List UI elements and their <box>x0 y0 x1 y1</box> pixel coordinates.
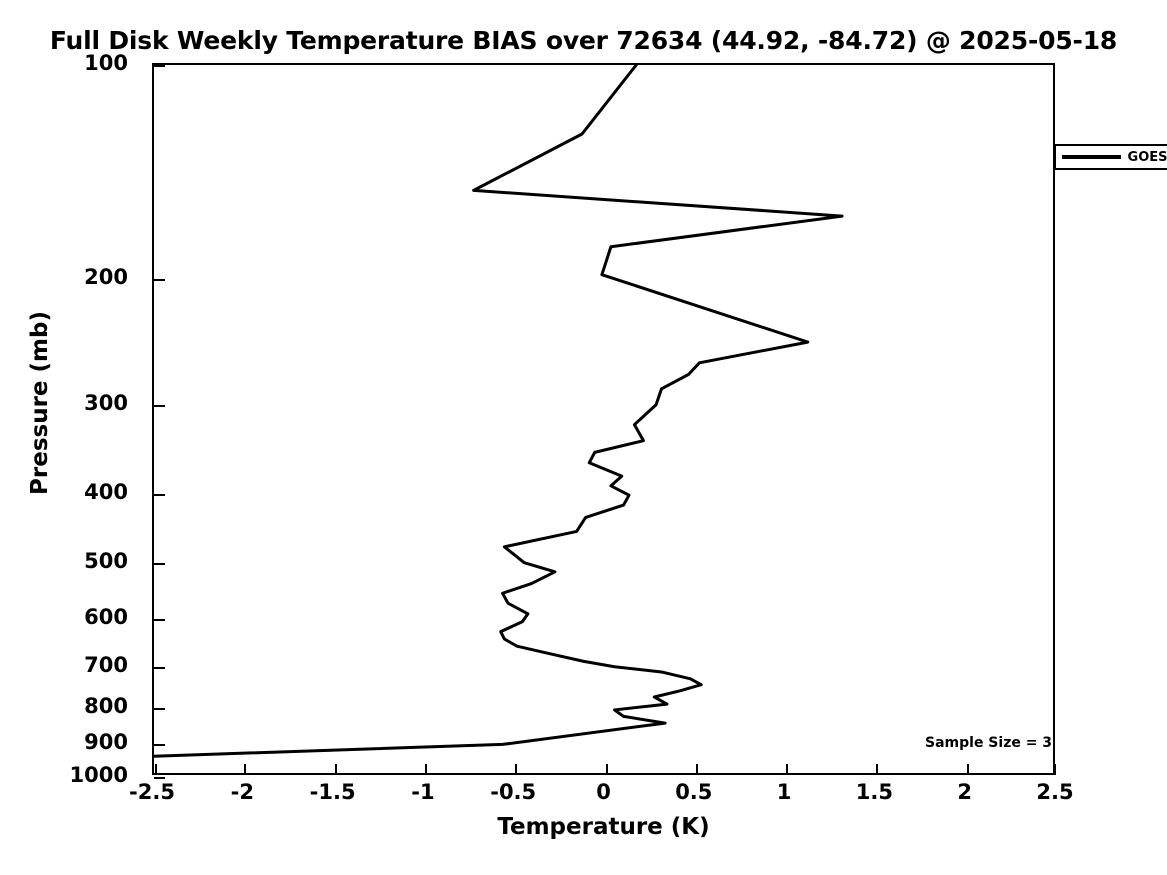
y-tick-label: 900 <box>84 730 128 754</box>
x-axis-tick-labels: -2.5-2-1.5-1-0.500.511.522.5 <box>152 780 1055 814</box>
x-tick-mark <box>425 764 427 775</box>
legend-line-swatch <box>1062 155 1121 159</box>
series-line-goes-19 <box>154 65 842 756</box>
x-tick-label: 2.5 <box>1036 780 1073 804</box>
y-tick-label: 400 <box>84 480 128 504</box>
y-tick-label: 800 <box>84 694 128 718</box>
x-tick-mark <box>335 764 337 775</box>
sample-size-annotation: Sample Size = 3 <box>925 735 1052 751</box>
x-tick-mark <box>606 764 608 775</box>
x-tick-label: 1.5 <box>856 780 893 804</box>
x-tick-mark <box>876 764 878 775</box>
x-tick-label: -2.5 <box>129 780 175 804</box>
x-tick-mark <box>155 764 157 775</box>
x-tick-mark <box>786 764 788 775</box>
x-tick-label: 0.5 <box>675 780 712 804</box>
y-tick-mark <box>154 619 165 621</box>
x-tick-mark <box>696 764 698 775</box>
plot-area: GOES-19 <box>152 63 1055 775</box>
y-tick-mark <box>154 667 165 669</box>
y-tick-mark <box>154 405 165 407</box>
y-tick-mark <box>154 279 165 281</box>
data-line-svg <box>154 65 1057 777</box>
legend[interactable]: GOES-19 <box>1054 144 1167 170</box>
x-axis-title: Temperature (K) <box>152 814 1055 840</box>
y-tick-label: 1000 <box>70 763 128 787</box>
x-tick-label: -2 <box>231 780 254 804</box>
page-title: Full Disk Weekly Temperature BIAS over 7… <box>0 26 1167 55</box>
y-tick-label: 600 <box>84 605 128 629</box>
x-tick-label: -0.5 <box>490 780 536 804</box>
y-axis-title: Pressure (mb) <box>27 263 53 543</box>
x-tick-mark <box>244 764 246 775</box>
x-tick-mark <box>1054 764 1056 775</box>
y-axis-tick-labels: 1002003004005006007008009001000 <box>0 63 142 775</box>
y-tick-label: 500 <box>84 549 128 573</box>
y-tick-mark <box>154 65 165 67</box>
y-tick-label: 300 <box>84 391 128 415</box>
y-tick-label: 100 <box>84 51 128 75</box>
y-tick-mark <box>154 744 165 746</box>
y-tick-label: 700 <box>84 653 128 677</box>
x-tick-label: -1.5 <box>310 780 356 804</box>
x-tick-mark <box>515 764 517 775</box>
x-tick-mark <box>967 764 969 775</box>
x-tick-label: 0 <box>596 780 611 804</box>
legend-label-goes-19: GOES-19 <box>1128 150 1167 165</box>
chart-page: Full Disk Weekly Temperature BIAS over 7… <box>0 0 1167 875</box>
y-tick-mark <box>154 563 165 565</box>
y-tick-mark <box>154 777 165 779</box>
y-tick-mark <box>154 494 165 496</box>
x-tick-label: 2 <box>957 780 972 804</box>
x-tick-label: -1 <box>411 780 434 804</box>
y-tick-label: 200 <box>84 265 128 289</box>
x-tick-label: 1 <box>777 780 792 804</box>
y-tick-mark <box>154 708 165 710</box>
